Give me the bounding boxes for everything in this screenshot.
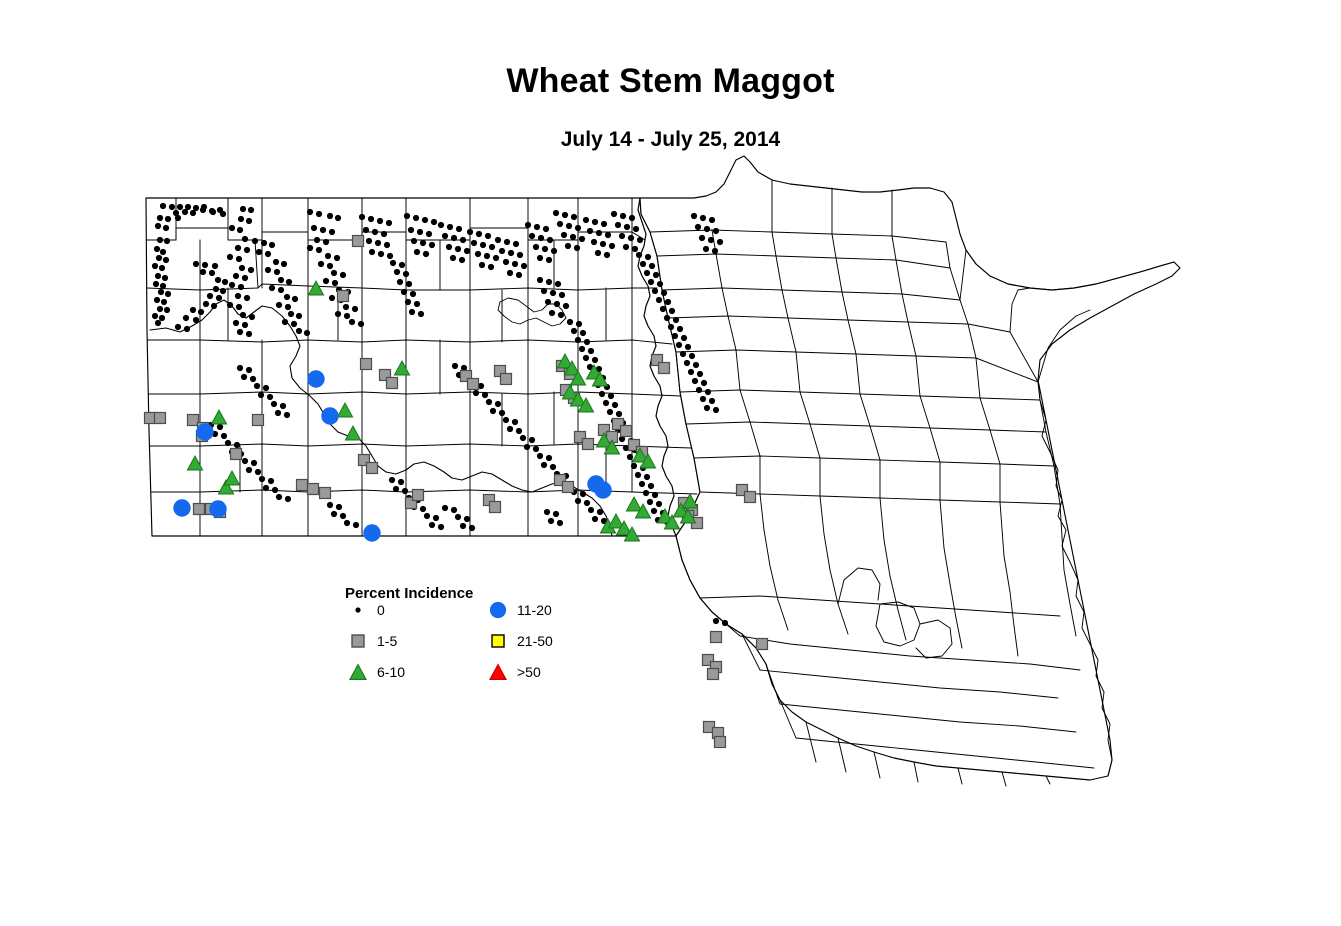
- map-point: [240, 312, 246, 318]
- map-point: [550, 464, 556, 470]
- map-point: [405, 299, 411, 305]
- map-point: [426, 231, 432, 237]
- map-point: [704, 226, 710, 232]
- map-point: [689, 353, 695, 359]
- map-point: [657, 281, 663, 287]
- map-point: [493, 255, 499, 261]
- map-point: [656, 297, 662, 303]
- map-point: [211, 303, 217, 309]
- map-point: [541, 462, 547, 468]
- map-point: [291, 321, 297, 327]
- map-point: [352, 306, 358, 312]
- map-point: [238, 284, 244, 290]
- map-point: [464, 248, 470, 254]
- map-point: [215, 277, 221, 283]
- legend-glyph: [490, 602, 505, 617]
- map-point: [546, 279, 552, 285]
- map-point: [237, 227, 243, 233]
- map-point: [160, 249, 166, 255]
- map-point: [175, 324, 181, 330]
- map-point: [344, 313, 350, 319]
- map-point: [188, 415, 199, 426]
- map-point: [488, 264, 494, 270]
- map-point: [329, 229, 335, 235]
- map-point: [274, 269, 280, 275]
- map-point: [390, 260, 396, 266]
- map-point: [237, 365, 243, 371]
- map-point: [334, 255, 340, 261]
- legend-item-label: 1-5: [377, 633, 397, 649]
- map-point: [499, 248, 505, 254]
- map-point: [512, 261, 518, 267]
- map-point: [537, 453, 543, 459]
- map-point: [190, 210, 196, 216]
- map-point: [335, 215, 341, 221]
- map-point: [557, 520, 563, 526]
- map-point: [336, 504, 342, 510]
- map-point: [588, 507, 594, 513]
- map-point: [529, 233, 535, 239]
- map-point: [442, 505, 448, 511]
- map-point: [244, 247, 250, 253]
- map-point: [704, 405, 710, 411]
- map-point: [579, 346, 585, 352]
- map-point: [651, 508, 657, 514]
- map-point: [695, 224, 701, 230]
- map-point: [697, 371, 703, 377]
- map-point: [480, 242, 486, 248]
- map-point: [703, 246, 709, 252]
- map-point: [338, 291, 349, 302]
- map-point: [476, 231, 482, 237]
- map-point: [387, 378, 398, 389]
- map-point: [231, 449, 242, 460]
- map-point: [643, 490, 649, 496]
- map-point: [156, 255, 162, 261]
- map-point: [489, 244, 495, 250]
- map-point: [467, 229, 473, 235]
- map-point: [424, 513, 430, 519]
- map-point: [175, 215, 181, 221]
- map-point: [631, 463, 637, 469]
- map-point: [261, 240, 267, 246]
- map-point: [455, 514, 461, 520]
- map-point: [332, 280, 338, 286]
- map-point: [661, 290, 667, 296]
- map-point: [554, 301, 560, 307]
- map-point: [235, 245, 241, 251]
- map-point: [592, 357, 598, 363]
- map-point: [233, 320, 239, 326]
- map-point: [159, 265, 165, 271]
- map-point: [207, 293, 213, 299]
- map-point: [286, 279, 292, 285]
- map-point: [193, 261, 199, 267]
- map-point: [222, 279, 228, 285]
- map-point: [501, 374, 512, 385]
- map-point: [551, 248, 557, 254]
- map-point: [194, 504, 205, 515]
- map-point: [587, 228, 593, 234]
- map-point: [183, 315, 189, 321]
- map-point: [548, 518, 554, 524]
- legend-symbol-square: [485, 632, 511, 650]
- map-point: [596, 230, 602, 236]
- map-point: [507, 426, 513, 432]
- map-point: [538, 235, 544, 241]
- map-point: [210, 501, 226, 517]
- map-point: [546, 455, 552, 461]
- map-point: [177, 204, 183, 210]
- legend-symbol-triangle: [345, 663, 371, 681]
- map-point: [327, 263, 333, 269]
- map-point: [681, 335, 687, 341]
- map-point: [227, 302, 233, 308]
- map-point: [422, 217, 428, 223]
- map-point: [708, 669, 719, 680]
- map-point: [259, 476, 265, 482]
- map-point: [442, 233, 448, 239]
- map-page: Wheat Stem Maggot July 14 - July 25, 201…: [0, 0, 1341, 926]
- map-point: [420, 240, 426, 246]
- map-point: [159, 315, 165, 321]
- map-point: [242, 236, 248, 242]
- map-point: [238, 216, 244, 222]
- map-point: [482, 392, 488, 398]
- map-point: [520, 435, 526, 441]
- map-point: [691, 213, 697, 219]
- map-point: [644, 474, 650, 480]
- map-point: [398, 479, 404, 485]
- map-point: [592, 219, 598, 225]
- map-point: [254, 383, 260, 389]
- map-point: [165, 216, 171, 222]
- map-point: [588, 348, 594, 354]
- legend-item-label: 0: [377, 602, 385, 618]
- map-point: [209, 270, 215, 276]
- map-point: [580, 491, 586, 497]
- map-point: [433, 515, 439, 521]
- map-point: [459, 257, 465, 263]
- map-point: [155, 273, 161, 279]
- map-point: [534, 224, 540, 230]
- map-point: [709, 217, 715, 223]
- map-point: [281, 261, 287, 267]
- map-point: [471, 240, 477, 246]
- map-point: [570, 234, 576, 240]
- map-point: [607, 409, 613, 415]
- map-point: [236, 304, 242, 310]
- map-point: [639, 481, 645, 487]
- map-point: [583, 217, 589, 223]
- map-point: [203, 301, 209, 307]
- map-point: [592, 516, 598, 522]
- map-point: [516, 428, 522, 434]
- map-point: [525, 222, 531, 228]
- map-point: [369, 249, 375, 255]
- map-point: [244, 295, 250, 301]
- map-point: [152, 313, 158, 319]
- map-point: [473, 390, 479, 396]
- map-point: [701, 380, 707, 386]
- map-point: [652, 492, 658, 498]
- map-point: [623, 244, 629, 250]
- map-point: [708, 237, 714, 243]
- map-point: [155, 320, 161, 326]
- map-point: [512, 419, 518, 425]
- legend-symbol-small-dot: [345, 601, 371, 619]
- map-point: [717, 239, 723, 245]
- map-point: [451, 507, 457, 513]
- map-point: [486, 399, 492, 405]
- map-point: [504, 239, 510, 245]
- map-point: [276, 302, 282, 308]
- map-point: [182, 209, 188, 215]
- map-point: [452, 363, 458, 369]
- map-point: [705, 389, 711, 395]
- map-point: [280, 403, 286, 409]
- map-point: [268, 478, 274, 484]
- map-point: [503, 259, 509, 265]
- map-point: [644, 270, 650, 276]
- map-point: [604, 252, 610, 258]
- map-point: [414, 301, 420, 307]
- map-point: [460, 523, 466, 529]
- legend-item-label: 11-20: [517, 602, 552, 618]
- map-point: [161, 299, 167, 305]
- map-point: [411, 238, 417, 244]
- map-point: [559, 292, 565, 298]
- map-point: [640, 261, 646, 267]
- map-point: [529, 437, 535, 443]
- map-point: [165, 291, 171, 297]
- map-point: [684, 360, 690, 366]
- map-point: [193, 317, 199, 323]
- map-point: [700, 396, 706, 402]
- map-point: [745, 492, 756, 503]
- map-point: [234, 442, 240, 448]
- map-point: [715, 737, 726, 748]
- map-point: [253, 415, 264, 426]
- map-point: [359, 214, 365, 220]
- map-point: [541, 288, 547, 294]
- map-point: [699, 235, 705, 241]
- map-point: [276, 494, 282, 500]
- map-point: [278, 277, 284, 283]
- map-point: [549, 310, 555, 316]
- map-point: [241, 374, 247, 380]
- map-point: [160, 203, 166, 209]
- map-point: [680, 351, 686, 357]
- map-point: [660, 306, 666, 312]
- map-point: [605, 232, 611, 238]
- map-point: [429, 522, 435, 528]
- map-point: [553, 511, 559, 517]
- map-point: [402, 488, 408, 494]
- map-point: [431, 219, 437, 225]
- map-point: [692, 378, 698, 384]
- map-point: [320, 227, 326, 233]
- map-point: [158, 289, 164, 295]
- map-point: [349, 319, 355, 325]
- map-point: [397, 279, 403, 285]
- map-point: [190, 307, 196, 313]
- map-point: [652, 288, 658, 294]
- map-point: [672, 333, 678, 339]
- map-point: [574, 245, 580, 251]
- map-point: [311, 225, 317, 231]
- map-point: [408, 227, 414, 233]
- map-point: [685, 344, 691, 350]
- map-point: [575, 225, 581, 231]
- map-point: [558, 312, 564, 318]
- map-point: [235, 293, 241, 299]
- map-point: [557, 221, 563, 227]
- map-point: [296, 313, 302, 319]
- map-point: [249, 314, 255, 320]
- map-point: [157, 306, 163, 312]
- map-point: [627, 454, 633, 460]
- map-point: [565, 243, 571, 249]
- map-point: [503, 417, 509, 423]
- legend-glyph: [490, 665, 506, 680]
- map-point: [533, 244, 539, 250]
- map-point: [677, 326, 683, 332]
- map-point: [329, 295, 335, 301]
- map-point: [250, 376, 256, 382]
- map-point: [282, 319, 288, 325]
- map-point: [316, 211, 322, 217]
- map-point: [566, 223, 572, 229]
- map-point: [713, 228, 719, 234]
- map-point: [248, 267, 254, 273]
- map-point: [450, 255, 456, 261]
- map-point: [246, 467, 252, 473]
- map-point: [575, 498, 581, 504]
- map-point: [200, 207, 206, 213]
- map-point: [547, 237, 553, 243]
- map-point: [673, 317, 679, 323]
- map-point: [571, 214, 577, 220]
- map-point: [544, 509, 550, 515]
- map-point: [649, 263, 655, 269]
- map-point: [269, 242, 275, 248]
- map-point: [372, 229, 378, 235]
- legend-glyph: [492, 635, 504, 647]
- map-point: [413, 215, 419, 221]
- map-point: [410, 291, 416, 297]
- map-point: [648, 483, 654, 489]
- legend-item-label: 6-10: [377, 664, 405, 680]
- map-point: [567, 319, 573, 325]
- map-point: [609, 243, 615, 249]
- map-point: [418, 311, 424, 317]
- map-point: [664, 315, 670, 321]
- map-point: [712, 248, 718, 254]
- map-point: [378, 251, 384, 257]
- map-point: [647, 499, 653, 505]
- map-point: [368, 216, 374, 222]
- map-point: [164, 238, 170, 244]
- map-point: [258, 392, 264, 398]
- map-point: [162, 275, 168, 281]
- map-point: [648, 279, 654, 285]
- map-point: [543, 226, 549, 232]
- map-point: [353, 236, 364, 247]
- map-point: [163, 225, 169, 231]
- map-point: [212, 263, 218, 269]
- map-point: [364, 525, 380, 541]
- map-point: [645, 254, 651, 260]
- map-point: [284, 294, 290, 300]
- map-point: [413, 490, 424, 501]
- map-point: [320, 488, 331, 499]
- map-point: [246, 367, 252, 373]
- map-point: [600, 241, 606, 247]
- map-point: [273, 259, 279, 265]
- map-point: [451, 235, 457, 241]
- map-point: [406, 281, 412, 287]
- map-point: [575, 337, 581, 343]
- map-point: [438, 524, 444, 530]
- map-point: [628, 235, 634, 241]
- map-point: [284, 412, 290, 418]
- map-point: [659, 363, 670, 374]
- map-point: [343, 304, 349, 310]
- map-point: [285, 304, 291, 310]
- map-point: [401, 289, 407, 295]
- map-point: [633, 226, 639, 232]
- map-point: [154, 246, 160, 252]
- map-point: [246, 218, 252, 224]
- map-point: [591, 239, 597, 245]
- map-point: [553, 210, 559, 216]
- map-point: [292, 296, 298, 302]
- map-point: [363, 227, 369, 233]
- legend-symbol-square: [345, 632, 371, 650]
- map-point: [263, 385, 269, 391]
- legend: Percent Incidence 01-56-1011-2021-50>50: [345, 585, 565, 710]
- map-point: [507, 270, 513, 276]
- map-point: [599, 391, 605, 397]
- map-point: [576, 321, 582, 327]
- map-point: [307, 209, 313, 215]
- map-point: [513, 241, 519, 247]
- map-point: [615, 222, 621, 228]
- map-point: [495, 237, 501, 243]
- map-point: [353, 522, 359, 528]
- map-point: [275, 410, 281, 416]
- map-point: [157, 215, 163, 221]
- legend-symbol-triangle: [485, 663, 511, 681]
- map-point: [340, 513, 346, 519]
- map-point: [571, 328, 577, 334]
- map-point: [485, 233, 491, 239]
- map-point: [200, 269, 206, 275]
- map-point: [550, 290, 556, 296]
- map-point: [601, 221, 607, 227]
- legend-glyph: [352, 635, 364, 647]
- map-point: [316, 247, 322, 253]
- map-point: [256, 249, 262, 255]
- map-point: [438, 222, 444, 228]
- map-svg: [0, 0, 1341, 926]
- map-point: [464, 516, 470, 522]
- map-point: [227, 254, 233, 260]
- map-point: [562, 212, 568, 218]
- map-point: [713, 618, 719, 624]
- map-point: [637, 237, 643, 243]
